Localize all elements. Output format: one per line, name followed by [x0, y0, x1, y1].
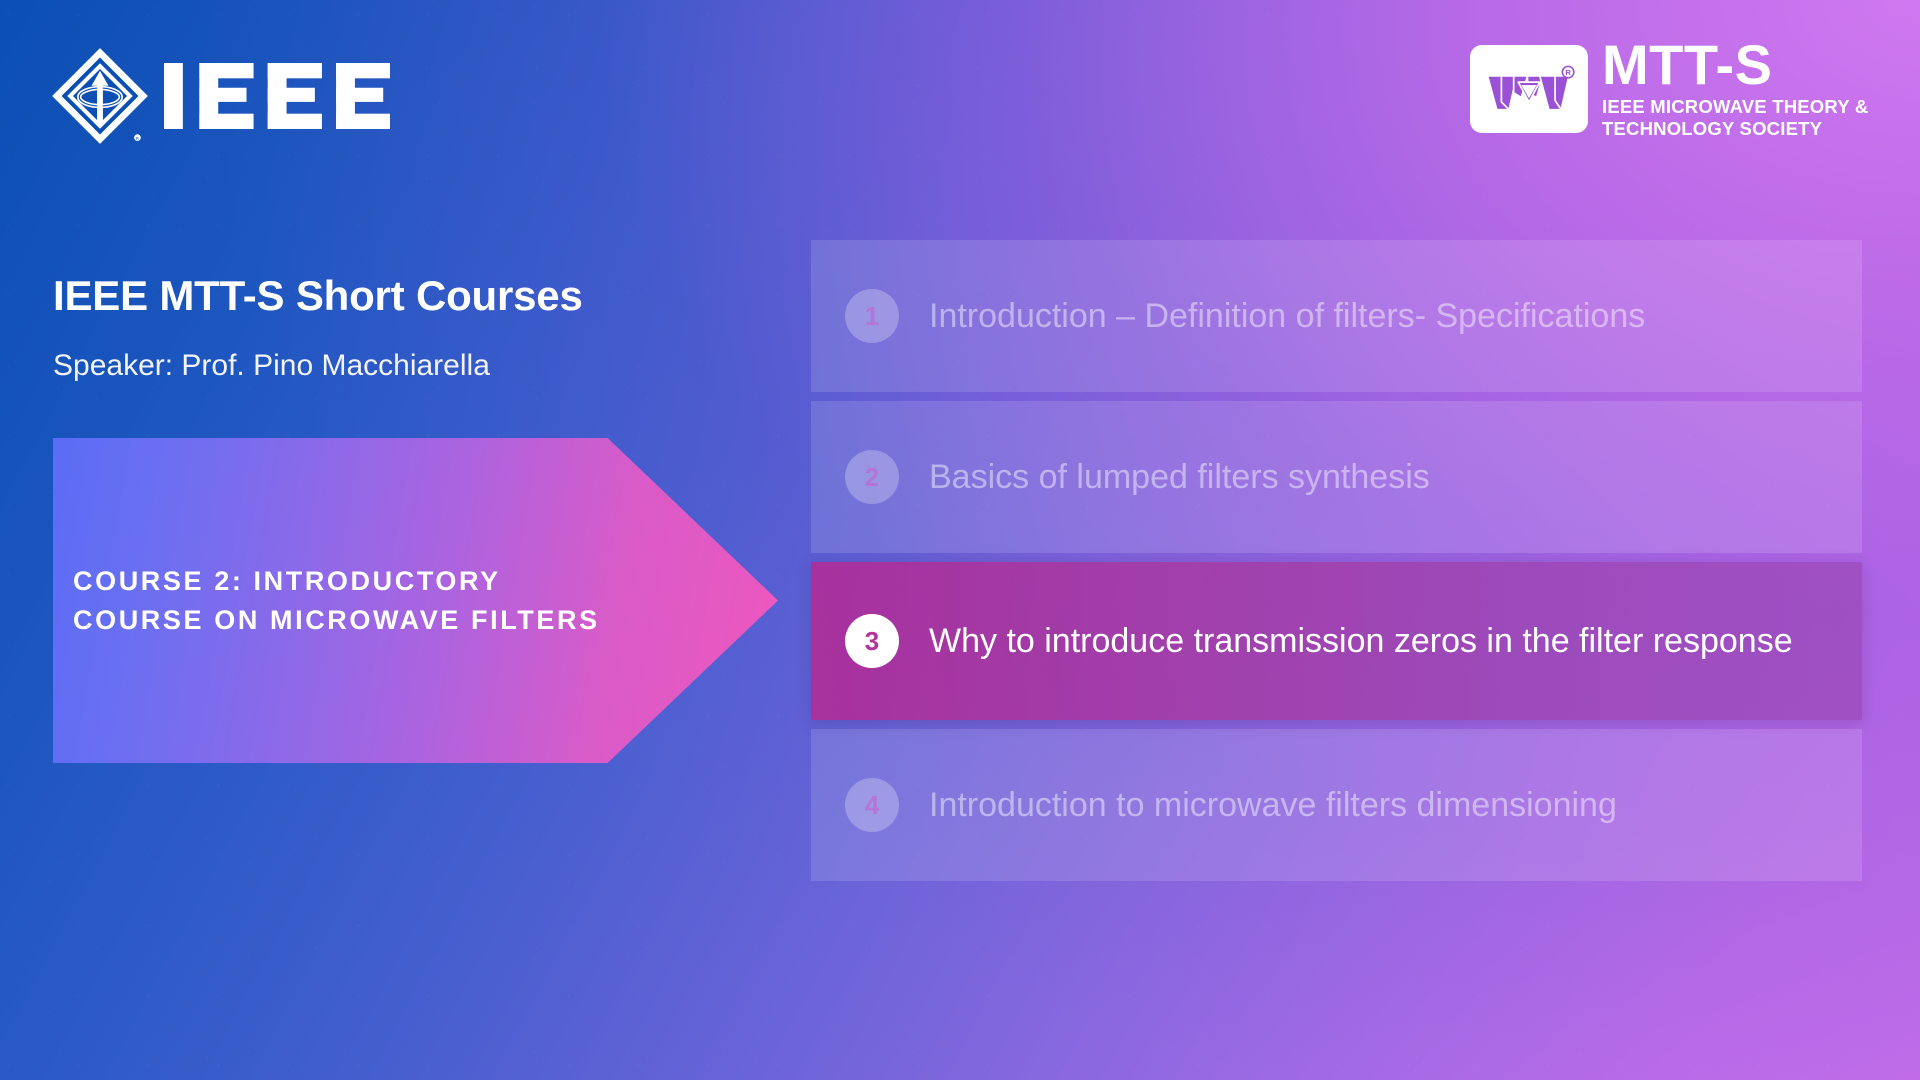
- agenda-item-2[interactable]: 2 Basics of lumped filters synthesis: [811, 401, 1862, 553]
- speaker-line: Speaker: Prof. Pino Macchiarella: [53, 349, 490, 383]
- mtts-badge: R: [1470, 45, 1588, 133]
- agenda-badge-3: 3: [845, 614, 899, 668]
- page-title: IEEE MTT-S Short Courses: [53, 272, 583, 320]
- course-banner: COURSE 2: INTRODUCTORY COURSE ON MICROWA…: [53, 438, 778, 763]
- agenda-label-3: Why to introduce transmission zeros in t…: [929, 619, 1835, 663]
- svg-text:R: R: [136, 136, 139, 141]
- agenda-badge-4: 4: [845, 778, 899, 832]
- ieee-diamond-icon: R: [48, 44, 152, 148]
- agenda-label-1: Introduction – Definition of filters- Sp…: [929, 294, 1687, 338]
- agenda-item-1[interactable]: 1 Introduction – Definition of filters- …: [811, 240, 1862, 392]
- ieee-wordmark: [164, 63, 390, 129]
- mtts-m-monogram-icon: R: [1483, 60, 1575, 118]
- agenda-badge-2: 2: [845, 450, 899, 504]
- agenda-item-4[interactable]: 4 Introduction to microwave filters dime…: [811, 729, 1862, 881]
- agenda-label-2: Basics of lumped filters synthesis: [929, 455, 1472, 499]
- svg-text:R: R: [1565, 68, 1571, 77]
- course-banner-label: COURSE 2: INTRODUCTORY COURSE ON MICROWA…: [53, 562, 613, 639]
- agenda-list: 1 Introduction – Definition of filters- …: [811, 240, 1862, 881]
- slide-root: R: [0, 0, 1920, 1080]
- ieee-logo: R: [48, 44, 390, 148]
- mtts-subtitle: IEEE MICROWAVE THEORY & TECHNOLOGY SOCIE…: [1602, 96, 1872, 140]
- mtts-title: MTT-S: [1602, 38, 1872, 91]
- mtts-text-block: MTT-S IEEE MICROWAVE THEORY & TECHNOLOGY…: [1602, 38, 1872, 140]
- agenda-badge-1: 1: [845, 289, 899, 343]
- agenda-label-4: Introduction to microwave filters dimens…: [929, 783, 1659, 827]
- agenda-item-3[interactable]: 3 Why to introduce transmission zeros in…: [811, 562, 1862, 720]
- mtts-logo: R MTT-S IEEE MICROWAVE THEORY & TECHNOLO…: [1470, 38, 1872, 140]
